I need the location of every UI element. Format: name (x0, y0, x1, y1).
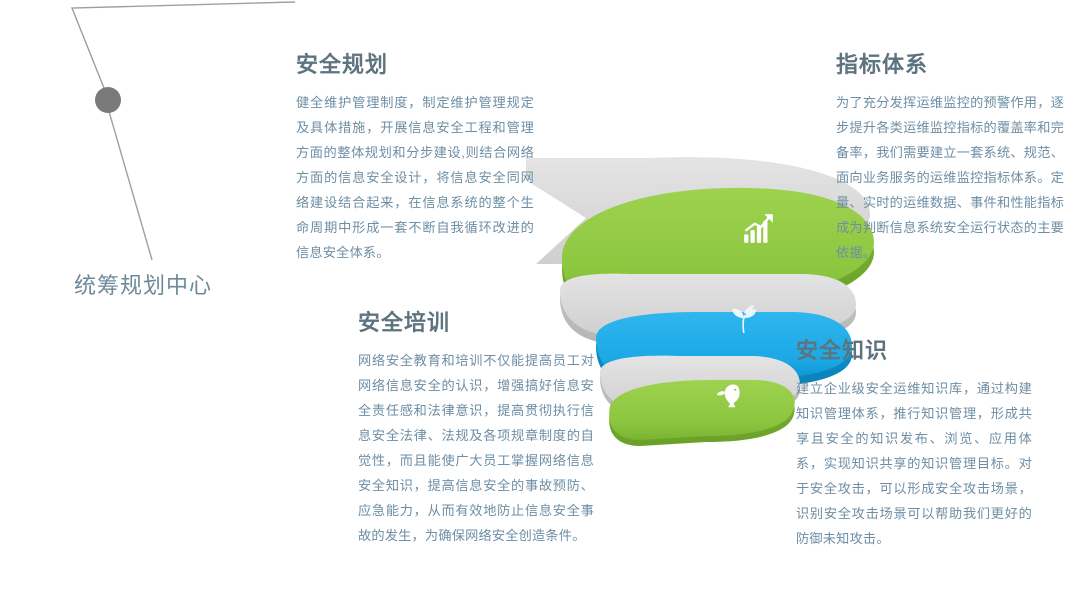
planning-body: 健全维护管理制度，制定维护管理规定及具体措施，开展信息安全工程和管理方面的整体规… (296, 90, 534, 265)
knowledge-heading: 安全知识 (796, 338, 1032, 364)
training-body: 网络安全教育和培训不仅能提高员工对网络信息安全的认识，增强搞好信息安全责任感和法… (358, 348, 594, 548)
text-block-planning: 安全规划 健全维护管理制度，制定维护管理规定及具体措施，开展信息安全工程和管理方… (296, 52, 534, 265)
node-dot-icon (95, 87, 121, 113)
text-block-knowledge: 安全知识 建立企业级安全运维知识库，通过构建知识管理体系，推行知识管理，形成共享… (796, 338, 1032, 551)
knowledge-body: 建立企业级安全运维知识库，通过构建知识管理体系，推行知识管理，形成共享且安全的知… (796, 376, 1032, 551)
center-title: 统筹规划中心 (74, 268, 212, 300)
text-block-metrics: 指标体系 为了充分发挥运维监控的预警作用，逐步提升各类运维监控指标的覆盖率和完备… (836, 52, 1064, 265)
metrics-heading: 指标体系 (836, 52, 1064, 78)
training-heading: 安全培训 (358, 310, 594, 336)
connector-line-upper (72, 2, 295, 98)
planning-heading: 安全规划 (296, 52, 534, 78)
metrics-body: 为了充分发挥运维监控的预警作用，逐步提升各类运维监控指标的覆盖率和完备率，我们需… (836, 90, 1064, 265)
text-block-training: 安全培训 网络安全教育和培训不仅能提高员工对网络信息安全的认识，增强搞好信息安全… (358, 310, 594, 548)
connector-line-lower (108, 108, 152, 260)
slide-canvas: 统筹规划中心 (0, 0, 1080, 608)
